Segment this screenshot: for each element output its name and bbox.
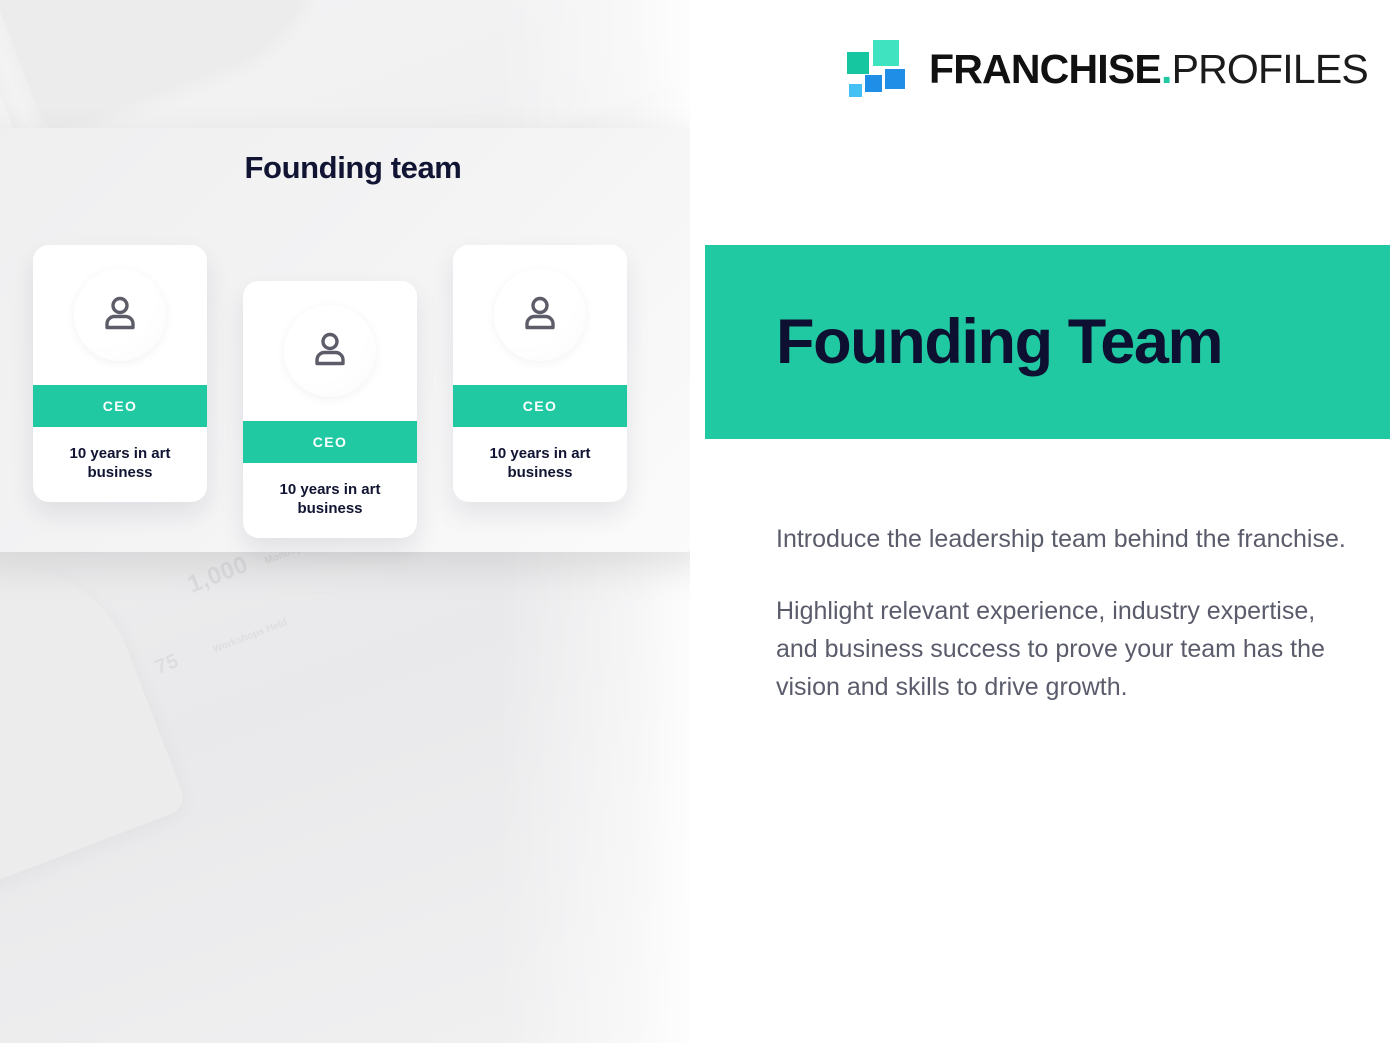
ghost-card-problem — [0, 0, 355, 133]
person-icon — [517, 292, 563, 338]
logo-mark-icon — [845, 40, 907, 98]
logo-wordmark: FRANCHISE.PROFILES — [929, 49, 1368, 90]
role-badge: CEO — [453, 385, 627, 427]
ghost-stat-workshops-value: 75 — [152, 650, 182, 680]
slide-root: MARKET Serviceable Obtainable Market (SO… — [0, 0, 1390, 1043]
bio-text: 10 years in art business — [243, 463, 417, 538]
logo-square-mint-large — [873, 40, 899, 66]
right-column: FRANCHISE.PROFILES Founding Team Introdu… — [690, 0, 1390, 1043]
avatar — [453, 245, 627, 385]
role-badge: CEO — [243, 421, 417, 463]
role-badge: CEO — [33, 385, 207, 427]
body-paragraph-1: Introduce the leadership team behind the… — [776, 520, 1348, 558]
logo-square-lightblue-small — [849, 84, 862, 97]
ghost-stat-visitors-value: 1,000 — [184, 551, 252, 599]
logo-square-blue-center — [865, 75, 882, 92]
brand-logo[interactable]: FRANCHISE.PROFILES — [845, 40, 1368, 98]
logo-word-light: PROFILES — [1172, 46, 1368, 92]
bio-text: 10 years in art business — [453, 427, 627, 502]
logo-word-dot: . — [1161, 46, 1172, 92]
team-card[interactable]: CEO 10 years in art business — [33, 245, 207, 502]
body-paragraph-2: Highlight relevant experience, industry … — [776, 592, 1348, 706]
ghost-stat-workshops-label: Workshops Held — [211, 616, 289, 657]
team-card[interactable]: CEO 10 years in art business — [453, 245, 627, 502]
logo-square-teal — [847, 52, 869, 74]
logo-word-bold: FRANCHISE — [929, 46, 1161, 92]
person-icon — [307, 328, 353, 374]
avatar-circle — [284, 305, 376, 397]
body-copy: Introduce the leadership team behind the… — [776, 520, 1348, 706]
team-card-list: CEO 10 years in art business CEO 10 year… — [0, 128, 706, 552]
avatar-circle — [74, 269, 166, 361]
ghost-card-traction — [0, 527, 188, 929]
logo-square-blue-right — [885, 69, 905, 89]
preview-panel: Founding team CEO 10 years in art busine… — [0, 128, 706, 552]
page-title: Founding Team — [776, 311, 1222, 374]
bio-text: 10 years in art business — [33, 427, 207, 502]
person-icon — [97, 292, 143, 338]
title-band: Founding Team — [705, 245, 1390, 439]
avatar — [33, 245, 207, 385]
team-card[interactable]: CEO 10 years in art business — [243, 281, 417, 538]
avatar-circle — [494, 269, 586, 361]
avatar — [243, 281, 417, 421]
